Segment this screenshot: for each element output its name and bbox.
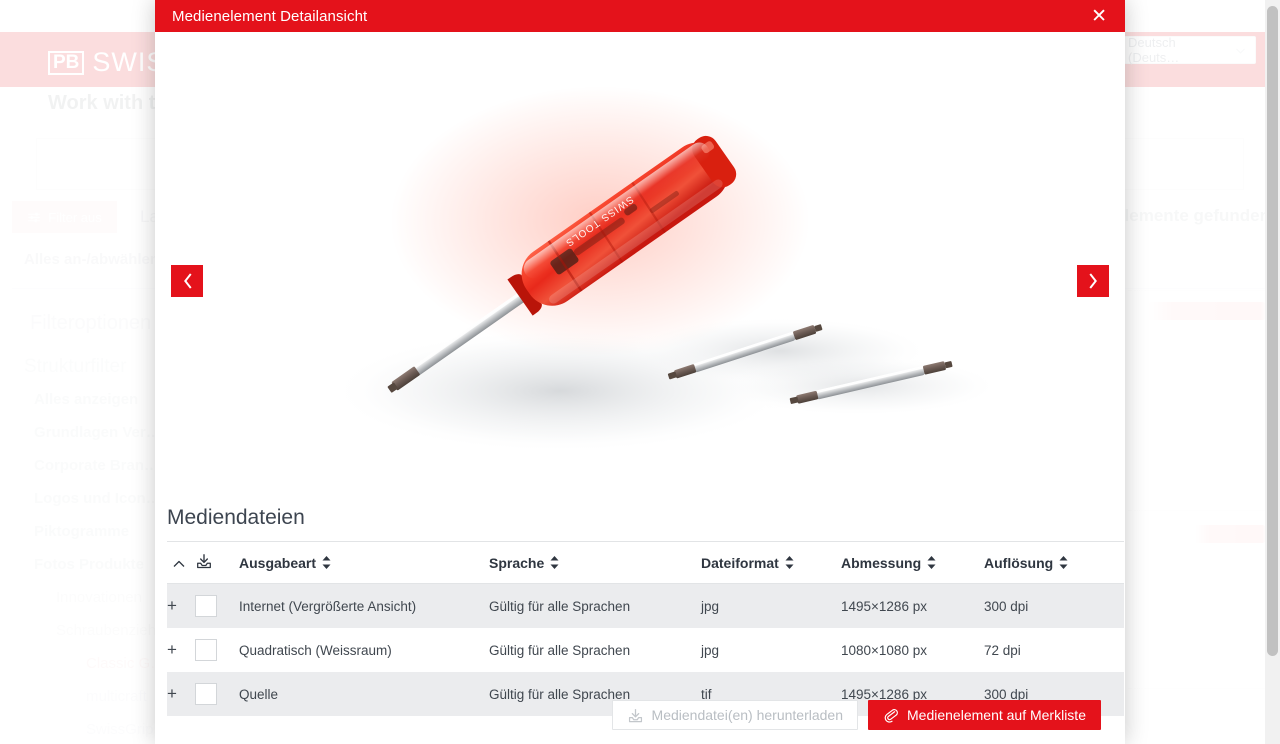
chevron-down-icon bbox=[1234, 44, 1247, 57]
column-header-aufloesung[interactable]: Auflösung bbox=[984, 542, 1124, 584]
product-photo: SWISS TOOLS bbox=[260, 51, 1020, 481]
media-detail-modal: Medienelement Detailansicht ✕ bbox=[155, 0, 1125, 744]
cell-aufloesung: 300 dpi bbox=[984, 584, 1124, 629]
table-row[interactable]: + Quadratisch (Weissraum) Gültig für all… bbox=[167, 628, 1124, 672]
column-header-ausgabeart-label: Ausgabeart bbox=[239, 555, 316, 571]
column-header-download[interactable] bbox=[195, 542, 239, 584]
close-icon[interactable]: ✕ bbox=[1087, 5, 1111, 28]
expand-row-button[interactable]: + bbox=[167, 584, 195, 629]
download-files-button[interactable]: Mediendatei(en) herunterladen bbox=[612, 700, 858, 730]
media-viewer: SWISS TOOLS bbox=[155, 32, 1125, 500]
paperclip-icon bbox=[883, 707, 899, 723]
sort-updown-icon bbox=[784, 555, 795, 570]
row-checkbox[interactable] bbox=[195, 595, 217, 617]
row-checkbox[interactable] bbox=[195, 683, 217, 705]
result-thumbnail[interactable] bbox=[1194, 525, 1266, 543]
expand-row-button[interactable]: + bbox=[167, 628, 195, 672]
media-image: SWISS TOOLS bbox=[155, 32, 1125, 500]
table-row[interactable]: + Internet (Vergrößerte Ansicht) Gültig … bbox=[167, 584, 1124, 629]
sort-updown-icon bbox=[1058, 555, 1069, 570]
cell-sprache: Gültig für alle Sprachen bbox=[489, 584, 701, 629]
result-thumbnail[interactable] bbox=[1146, 302, 1266, 320]
expand-row-button[interactable]: + bbox=[167, 672, 195, 716]
sort-updown-icon bbox=[926, 555, 937, 570]
media-files-heading: Mediendateien bbox=[167, 502, 1113, 541]
page-scrollbar-thumb[interactable] bbox=[1267, 6, 1278, 656]
row-checkbox[interactable] bbox=[195, 639, 217, 661]
download-icon bbox=[627, 707, 644, 724]
select-all-label: Alles an-/abwählen bbox=[24, 251, 159, 268]
filter-toggle-label: Filter aus bbox=[48, 210, 101, 225]
sliders-icon bbox=[27, 211, 41, 224]
cell-ausgabeart: Quadratisch (Weissraum) bbox=[239, 628, 489, 672]
table-body: + Internet (Vergrößerte Ansicht) Gültig … bbox=[167, 584, 1124, 717]
column-header-aufloesung-label: Auflösung bbox=[984, 555, 1053, 571]
cell-aufloesung: 72 dpi bbox=[984, 628, 1124, 672]
table-header-row: Ausgabeart Sprache bbox=[167, 542, 1124, 584]
sort-updown-icon bbox=[549, 555, 560, 570]
chevron-left-icon[interactable] bbox=[171, 265, 203, 297]
download-icon bbox=[195, 552, 213, 570]
cell-dateiformat: jpg bbox=[701, 584, 841, 629]
cell-ausgabeart: Quelle bbox=[239, 672, 489, 716]
add-to-watchlist-button[interactable]: Medienelement auf Merkliste bbox=[868, 700, 1101, 730]
column-header-dateiformat[interactable]: Dateiformat bbox=[701, 542, 841, 584]
column-header-expand[interactable] bbox=[167, 542, 195, 584]
column-header-abmessung[interactable]: Abmessung bbox=[841, 542, 984, 584]
filter-toggle-button[interactable]: Filter aus bbox=[12, 201, 117, 233]
modal-title: Medienelement Detailansicht bbox=[172, 8, 367, 25]
results-grid bbox=[1140, 100, 1280, 744]
cell-abmessung: 1080×1080 px bbox=[841, 628, 984, 672]
column-header-sprache[interactable]: Sprache bbox=[489, 542, 701, 584]
cell-sprache: Gültig für alle Sprachen bbox=[489, 628, 701, 672]
table-header: Ausgabeart Sprache bbox=[167, 542, 1124, 584]
download-files-button-label: Mediendatei(en) herunterladen bbox=[652, 707, 843, 723]
row-checkbox-cell[interactable] bbox=[195, 628, 239, 672]
column-header-dateiformat-label: Dateiformat bbox=[701, 555, 779, 571]
cell-dateiformat: jpg bbox=[701, 628, 841, 672]
media-files-table: Ausgabeart Sprache bbox=[167, 541, 1124, 716]
modal-footer-actions: Mediendatei(en) herunterladen Medienelem… bbox=[612, 700, 1101, 730]
column-header-ausgabeart[interactable]: Ausgabeart bbox=[239, 542, 489, 584]
row-checkbox-cell[interactable] bbox=[195, 584, 239, 629]
logo-mark: PB bbox=[48, 51, 84, 75]
caret-up-icon bbox=[173, 560, 185, 568]
cell-ausgabeart: Internet (Vergrößerte Ansicht) bbox=[239, 584, 489, 629]
row-checkbox-cell[interactable] bbox=[195, 672, 239, 716]
chevron-right-icon[interactable] bbox=[1077, 265, 1109, 297]
add-to-watchlist-button-label: Medienelement auf Merkliste bbox=[907, 707, 1086, 723]
modal-header: Medienelement Detailansicht ✕ bbox=[155, 0, 1125, 32]
media-files-section: Mediendateien bbox=[167, 502, 1113, 744]
modal-body: SWISS TOOLS bbox=[155, 32, 1125, 744]
sort-updown-icon bbox=[321, 555, 332, 570]
cell-abmessung: 1495×1286 px bbox=[841, 584, 984, 629]
language-selector-value: Deutsch (Deuts… bbox=[1128, 35, 1228, 65]
column-header-abmessung-label: Abmessung bbox=[841, 555, 921, 571]
column-header-sprache-label: Sprache bbox=[489, 555, 544, 571]
